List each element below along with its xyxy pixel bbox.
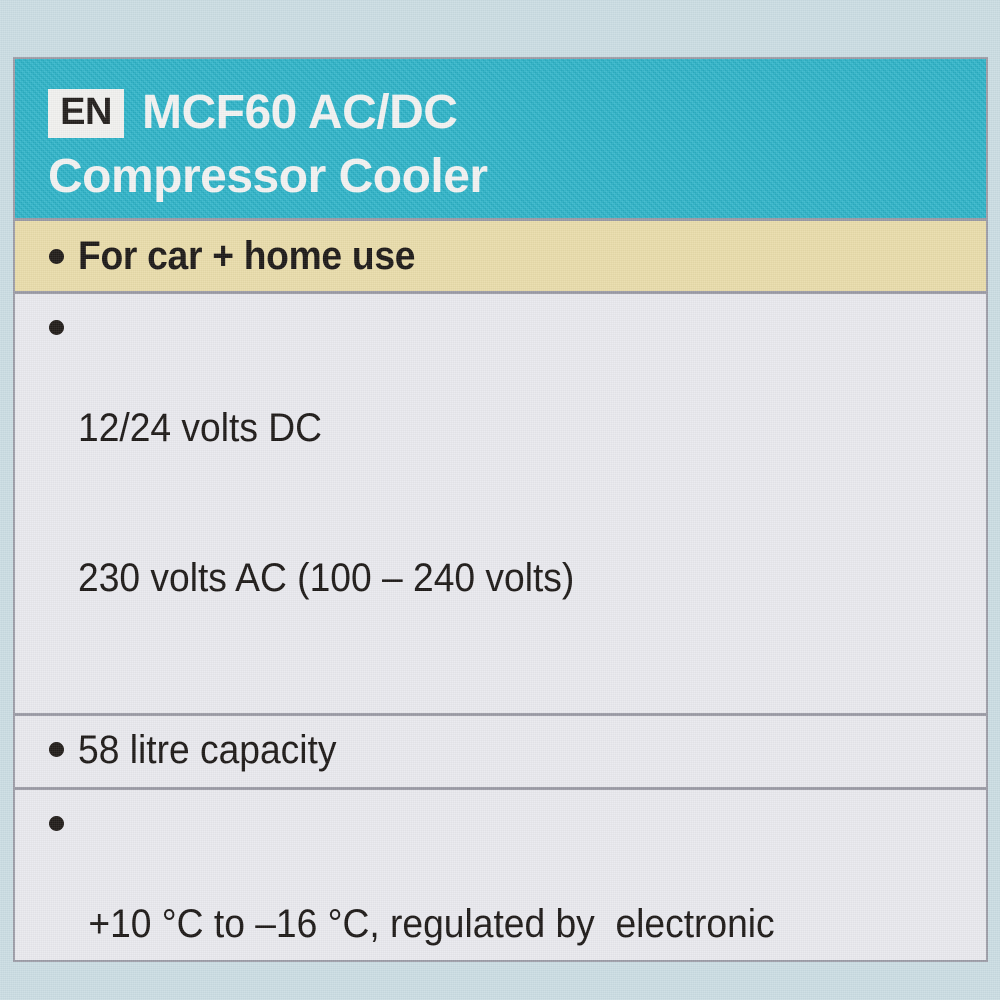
- feature-text-line-2: 230 volts AC (100 – 240 volts): [78, 553, 574, 603]
- header-first-line: EN MCF60 AC/DC: [48, 87, 986, 139]
- feature-row-temperature-range: +10 °C to –16 °C, regulated by electroni…: [15, 787, 986, 962]
- feature-row-for-car-home-use: For car + home use: [15, 218, 986, 291]
- bullet-icon: [49, 816, 64, 831]
- feature-text: For car + home use: [78, 222, 415, 291]
- feature-text: +10 °C to –16 °C, regulated by electroni…: [78, 790, 775, 962]
- feature-text-line-1: 12/24 volts DC: [78, 403, 574, 453]
- feature-row-voltage: 12/24 volts DC 230 volts AC (100 – 240 v…: [15, 291, 986, 713]
- product-type-title: Compressor Cooler: [48, 153, 986, 201]
- feature-text: 12/24 volts DC 230 volts AC (100 – 240 v…: [78, 294, 574, 713]
- bullet-icon: [49, 249, 64, 264]
- feature-text-line-1: +10 °C to –16 °C, regulated by electroni…: [78, 899, 775, 949]
- product-header-band: EN MCF60 AC/DC Compressor Cooler: [15, 59, 986, 218]
- feature-text: 58 litre capacity: [78, 716, 336, 785]
- bullet-icon: [49, 742, 64, 757]
- language-badge-en: EN: [48, 89, 124, 138]
- bullet-icon: [49, 320, 64, 335]
- feature-row-capacity: 58 litre capacity: [15, 713, 986, 787]
- product-model-title: MCF60 AC/DC: [142, 89, 457, 137]
- product-spec-panel: EN MCF60 AC/DC Compressor Cooler For car…: [13, 57, 988, 962]
